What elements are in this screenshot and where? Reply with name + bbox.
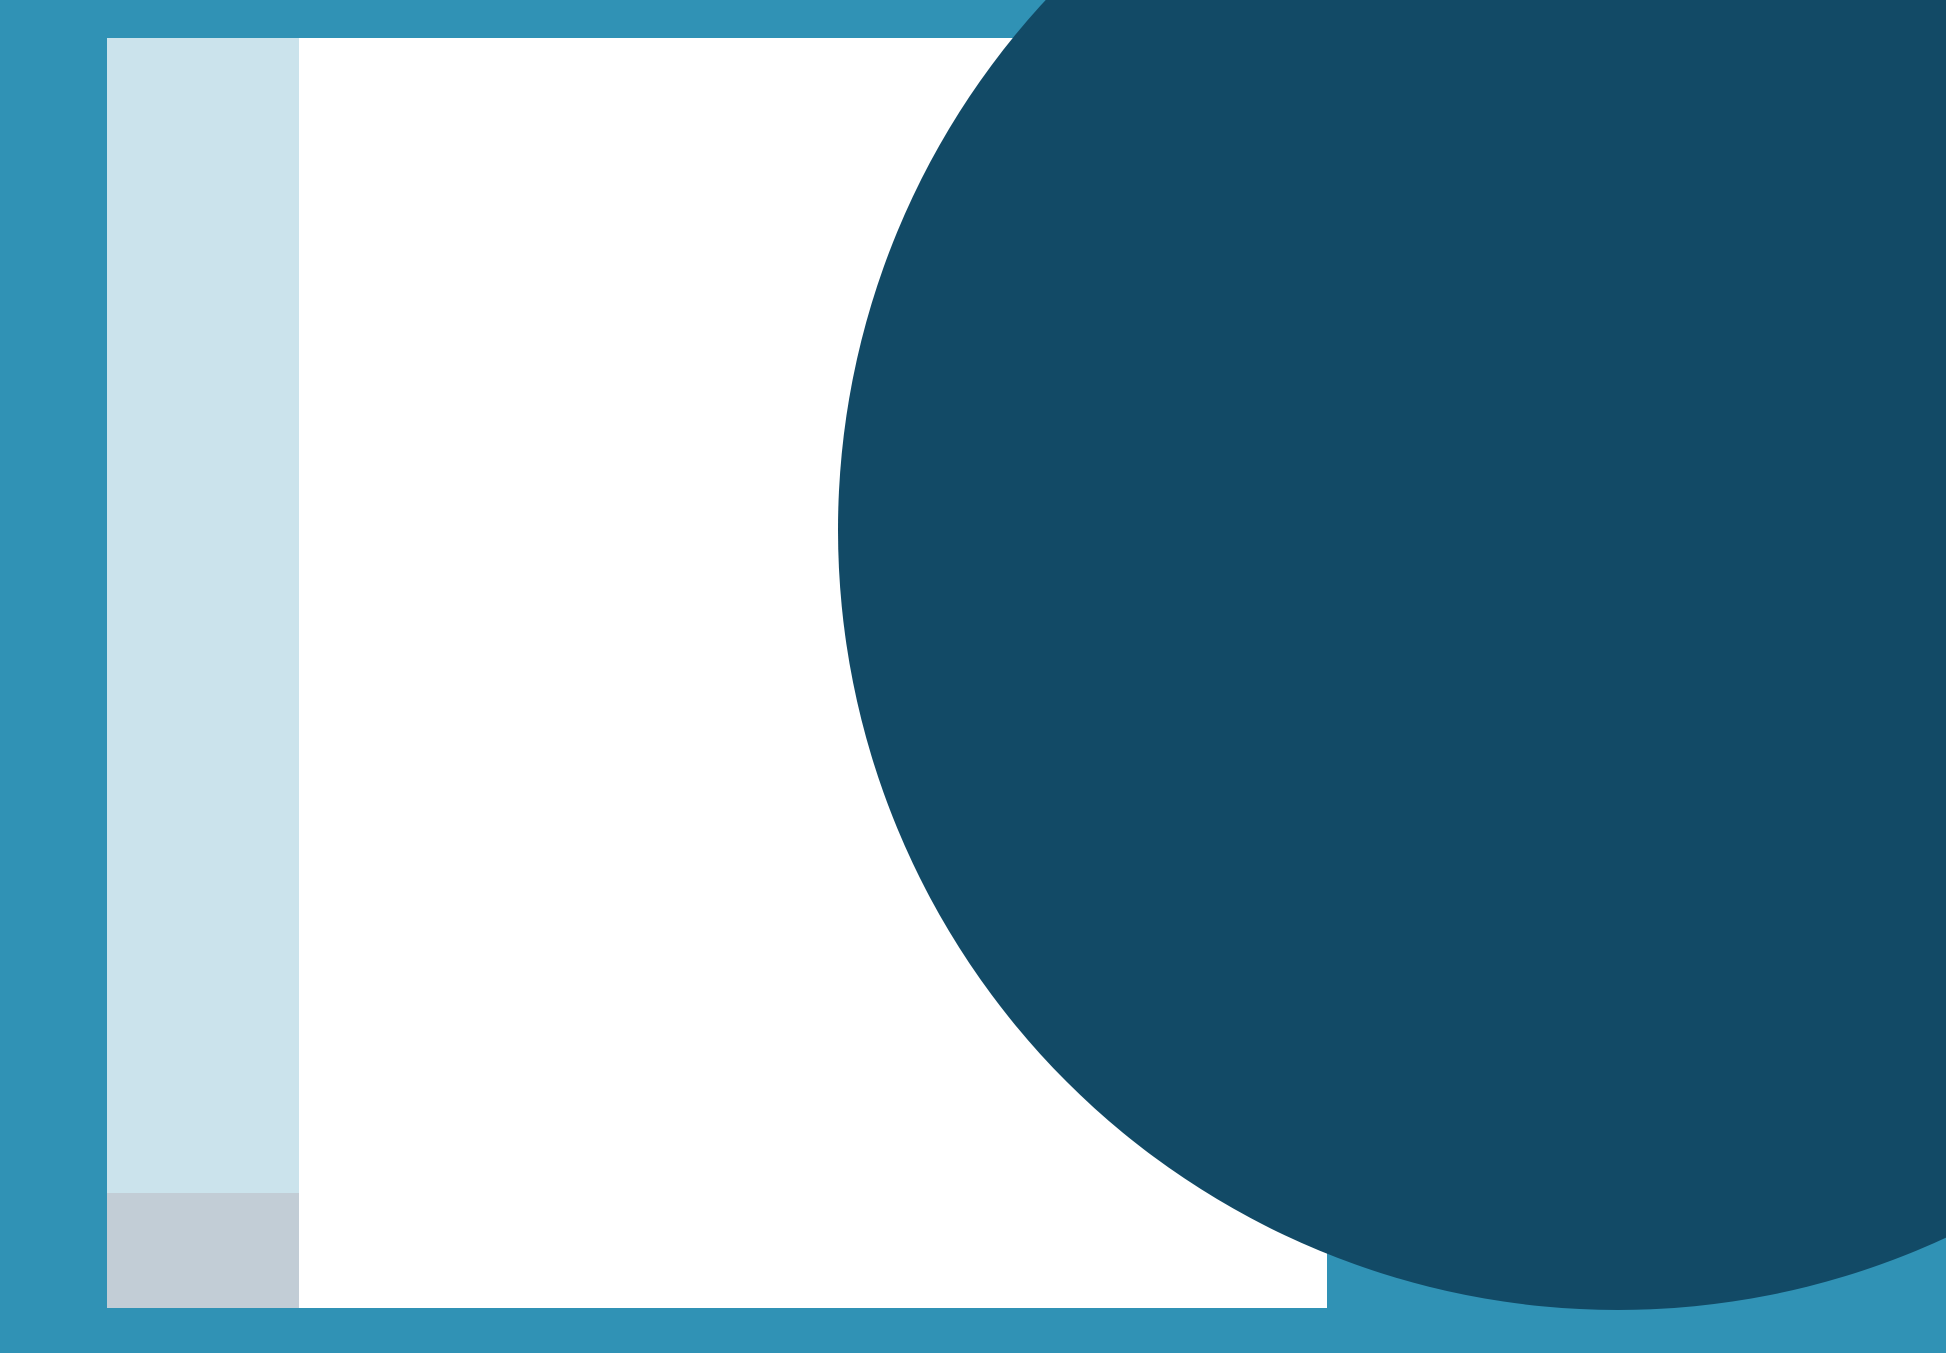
panel-feature-list [860,335,1620,345]
panel-content [838,0,1946,1310]
document-sidebar-footer-band [107,1193,299,1308]
materials-column-left [323,858,713,880]
teacher-resources-panel [838,0,1946,1310]
document-sidebar-band [107,38,299,1193]
